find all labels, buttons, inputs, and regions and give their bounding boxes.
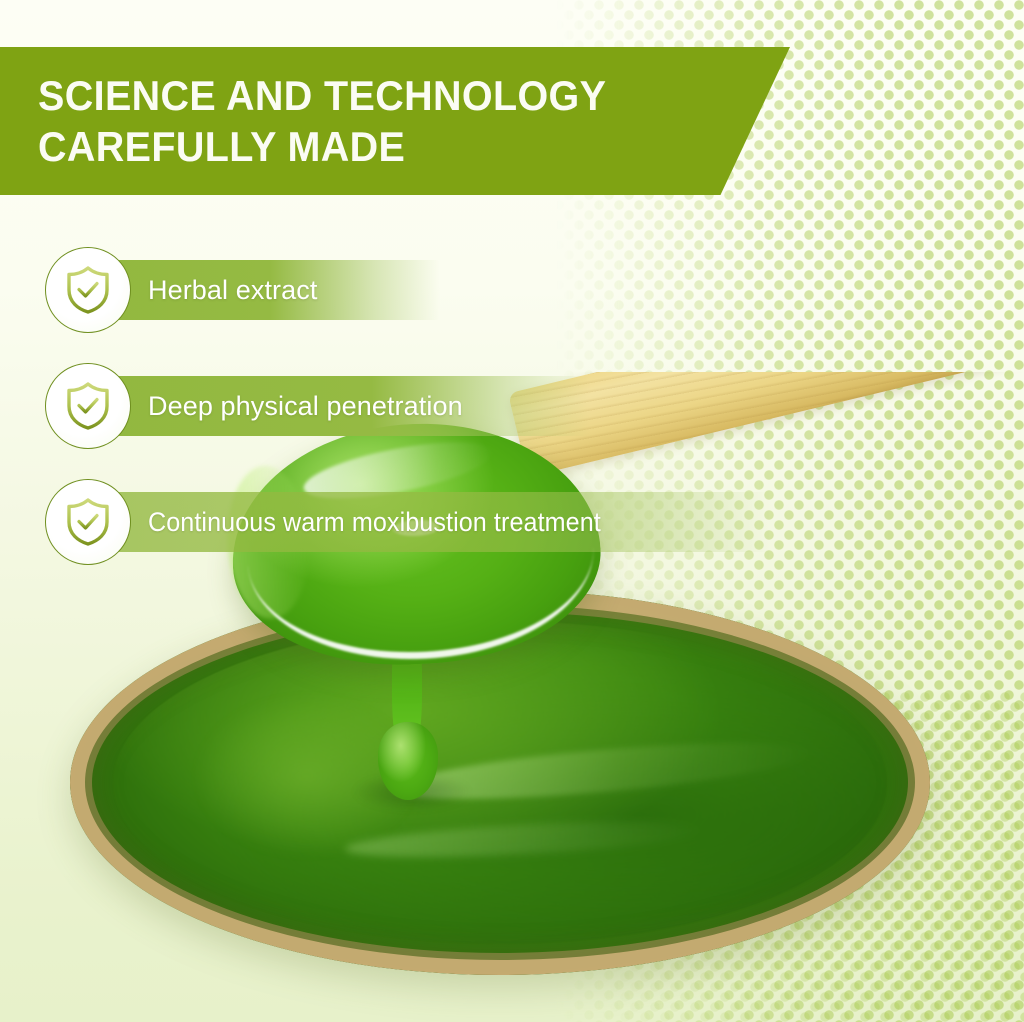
shield-check-icon (64, 265, 112, 315)
feature-icon-badge (45, 247, 131, 333)
feature-item-herbal-extract: Herbal extract (0, 247, 1024, 333)
feature-item-deep-penetration: Deep physical penetration (0, 363, 1024, 449)
feature-icon-badge (45, 363, 131, 449)
feature-label: Continuous warm moxibustion treatment (148, 492, 601, 552)
feature-label: Deep physical penetration (148, 376, 463, 436)
feature-icon-badge (45, 479, 131, 565)
feature-label: Herbal extract (148, 260, 317, 320)
polka-dot-pattern-bottom (0, 692, 1024, 1022)
feature-item-moxibustion: Continuous warm moxibustion treatment (0, 479, 1024, 565)
shield-check-icon (64, 497, 112, 547)
shield-check-icon (64, 381, 112, 431)
header-banner: SCIENCE AND TECHNOLOGY CAREFULLY MADE (0, 47, 790, 195)
banner-title-line-1: SCIENCE AND TECHNOLOGY (38, 70, 745, 121)
product-infographic: SCIENCE AND TECHNOLOGY CAREFULLY MADE (0, 0, 1024, 1022)
banner-title-line-2: CAREFULLY MADE (38, 121, 745, 172)
feature-list: Herbal extract Deep physical penetration… (0, 247, 1024, 595)
